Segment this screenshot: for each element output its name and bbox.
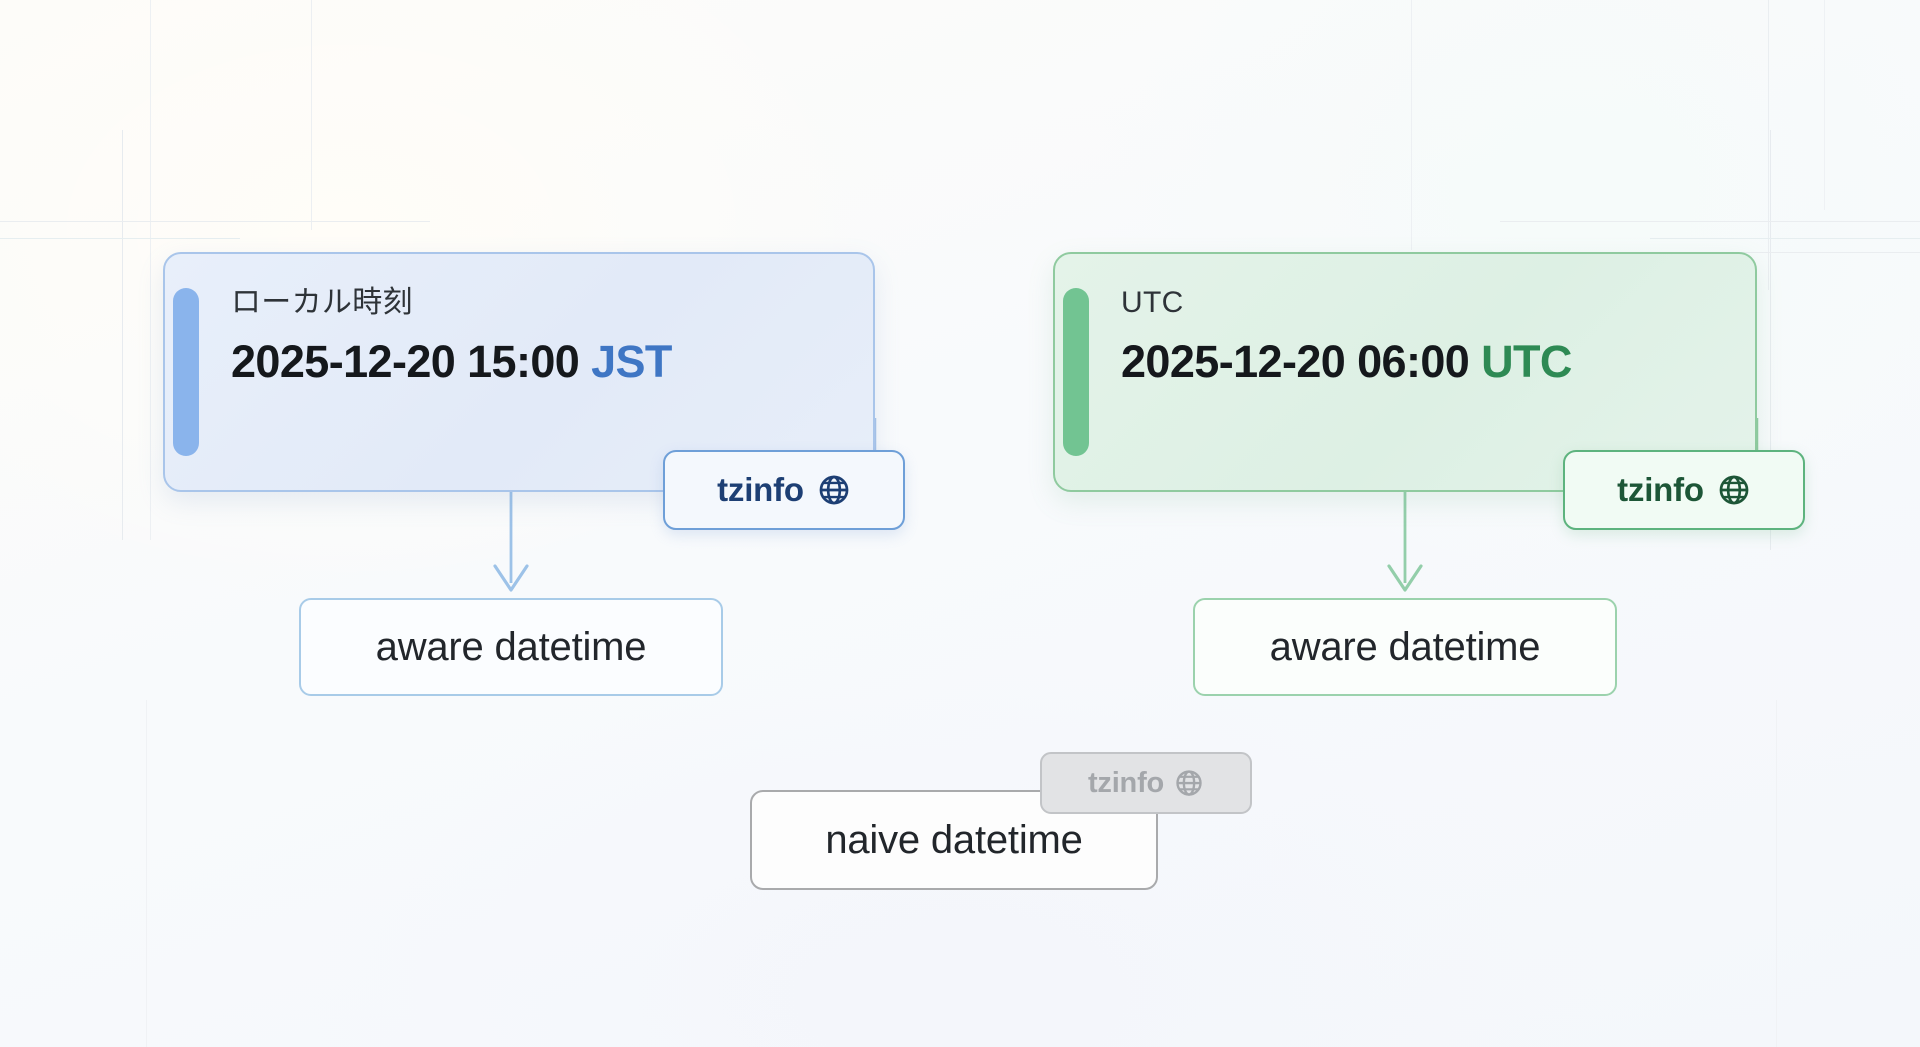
tzinfo-badge-label: tzinfo [1617,471,1704,509]
tzinfo-badge-naive-absent[interactable]: tzinfo [1040,752,1252,814]
tzinfo-badge-local[interactable]: tzinfo [663,450,905,530]
card-value: 2025-12-20 15:00 JST [231,337,855,387]
card-accent-bar [173,288,199,456]
card-body: UTC 2025-12-20 06:00 UTC [1121,286,1737,387]
card-datetime-value: 2025-12-20 15:00 [231,336,579,387]
card-value: 2025-12-20 06:00 UTC [1121,337,1737,387]
globe-icon [817,473,851,507]
card-label: ローカル時刻 [231,286,855,319]
aware-datetime-box-local[interactable]: aware datetime [299,598,723,696]
globe-icon [1717,473,1751,507]
card-datetime-value: 2025-12-20 06:00 [1121,336,1469,387]
globe-icon [1174,768,1204,798]
card-timezone-abbr: UTC [1481,336,1572,387]
tzinfo-badge-utc[interactable]: tzinfo [1563,450,1805,530]
timezone-diagram: ローカル時刻 2025-12-20 15:00 JST tzinfo aware… [0,0,1920,1047]
card-accent-bar [1063,288,1089,456]
card-body: ローカル時刻 2025-12-20 15:00 JST [231,286,855,387]
result-box-label: aware datetime [376,625,647,670]
result-box-label: naive datetime [825,818,1082,863]
result-box-label: aware datetime [1270,625,1541,670]
card-timezone-abbr: JST [591,336,672,387]
card-label: UTC [1121,286,1737,319]
aware-datetime-box-utc[interactable]: aware datetime [1193,598,1617,696]
tzinfo-badge-label: tzinfo [717,471,804,509]
tzinfo-badge-label: tzinfo [1088,767,1164,800]
